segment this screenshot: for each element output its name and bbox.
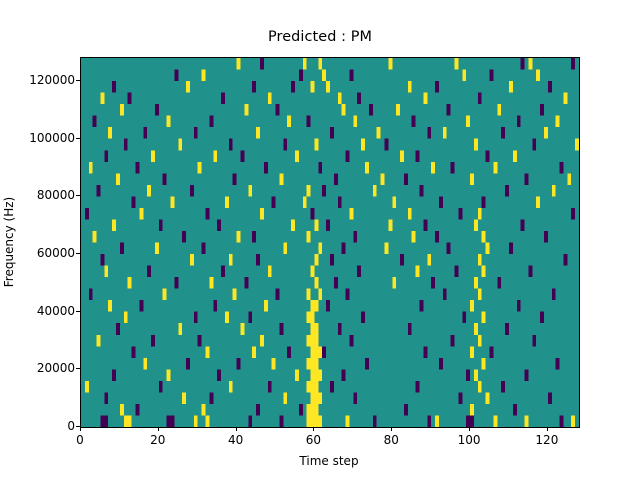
y-tick-mark [76, 368, 80, 369]
x-tick-label: 80 [384, 433, 399, 447]
x-tick-mark [391, 427, 392, 431]
y-axis-label-wrapper: Frequency (Hz) [0, 57, 18, 426]
x-tick-mark [80, 427, 81, 431]
y-tick-mark [76, 311, 80, 312]
y-tick-label: 40000 [37, 304, 75, 318]
y-tick-mark [76, 195, 80, 196]
x-tick-mark [313, 427, 314, 431]
y-tick-label: 100000 [29, 131, 75, 145]
y-tick-mark [76, 138, 80, 139]
x-tick-label: 0 [76, 433, 84, 447]
x-tick-label: 120 [535, 433, 558, 447]
y-tick-label: 120000 [29, 73, 75, 87]
y-tick-mark [76, 426, 80, 427]
y-tick-label: 80000 [37, 188, 75, 202]
y-tick-label: 20000 [37, 361, 75, 375]
y-axis-label: Frequency (Hz) [2, 196, 16, 287]
figure-canvas: Predicted : PM 020406080100120 020000400… [0, 0, 640, 480]
x-tick-mark [158, 427, 159, 431]
y-tick-mark [76, 80, 80, 81]
x-tick-mark [236, 427, 237, 431]
x-tick-label: 20 [150, 433, 165, 447]
x-axis-label: Time step [80, 454, 578, 468]
y-tick-label: 0 [67, 419, 75, 433]
y-tick-mark [76, 253, 80, 254]
x-tick-label: 40 [228, 433, 243, 447]
x-tick-mark [469, 427, 470, 431]
x-tick-label: 100 [458, 433, 481, 447]
x-tick-label: 60 [306, 433, 321, 447]
page-title: Predicted : PM [0, 29, 640, 45]
heatmap-image [81, 58, 579, 427]
heatmap-plot-area[interactable] [80, 57, 580, 428]
y-tick-label: 60000 [37, 246, 75, 260]
x-tick-mark [547, 427, 548, 431]
